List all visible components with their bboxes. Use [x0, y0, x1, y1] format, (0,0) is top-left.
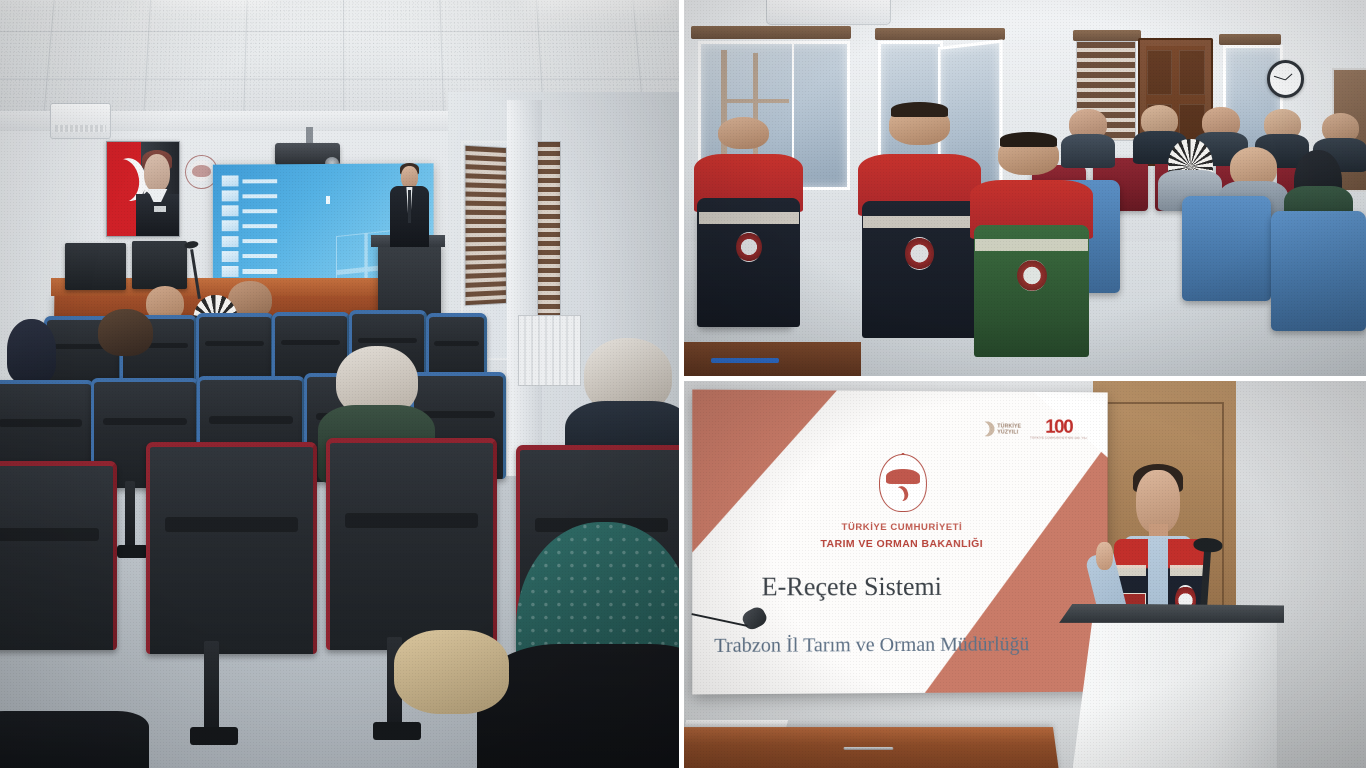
drawer-handle[interactable] — [844, 748, 893, 750]
presenter-hand — [1096, 542, 1113, 571]
logo-wheat-shape — [885, 469, 919, 484]
attendee — [1069, 109, 1107, 162]
desktop-icon — [221, 234, 278, 249]
desktop-icon — [221, 204, 278, 219]
attendee-jacket — [1061, 134, 1115, 168]
photo-conference-hall — [0, 0, 679, 768]
photo-collage: TÜRKİYE YÜZYILI 100 TÜRKİYE CUMHURİYETİ'… — [0, 0, 1366, 768]
monitor — [65, 243, 126, 291]
window-blind — [465, 145, 507, 307]
clock-minute-hand — [1274, 75, 1286, 80]
headscarf — [7, 319, 56, 382]
ministry-vest — [694, 154, 803, 323]
ministry-emblem-icon — [1017, 260, 1046, 291]
attendee-lap-item — [394, 630, 509, 715]
window-pelmet — [1219, 34, 1280, 45]
photo-audience — [684, 0, 1366, 376]
desktop-icon — [221, 174, 278, 189]
desktop-icon — [221, 249, 278, 264]
portrait-face — [144, 154, 170, 192]
window-pelmet — [691, 26, 851, 39]
attendee-hair — [98, 309, 152, 356]
attendee — [0, 645, 122, 768]
wall-clock — [1267, 60, 1304, 98]
chair-blue — [1271, 211, 1366, 331]
chair-leg — [204, 641, 219, 733]
chair-red — [0, 461, 117, 650]
door-panel — [1147, 50, 1173, 95]
ceiling-projector — [275, 143, 340, 165]
chair-leg — [125, 481, 135, 550]
desktop-icon — [221, 219, 278, 234]
hundred-caption: TÜRKİYE CUMHURİYETİ'NİN 100. YILI — [1030, 436, 1087, 440]
chair-red — [146, 442, 317, 654]
turkiye-yuzyili-logo: TÜRKİYE YÜZYILI — [979, 422, 1021, 437]
attendee-dark-clothing — [0, 711, 149, 768]
chair-foot — [190, 727, 238, 745]
door-panel — [1179, 50, 1205, 95]
photo-presentation: TÜRKİYE YÜZYILI 100 TÜRKİYE CUMHURİYETİ'… — [684, 381, 1366, 768]
badge-line-1: TÜRKİYE — [997, 423, 1021, 429]
ministry-logo-icon — [879, 454, 927, 511]
window-blind — [537, 141, 561, 321]
staff-hair — [891, 102, 947, 117]
chair-blue — [1182, 196, 1271, 301]
pen — [711, 358, 779, 363]
vest-reflective-stripe — [863, 216, 976, 229]
slide-title: E-Reçete Sistemi — [692, 572, 1009, 603]
vest-reflective-stripe — [1115, 565, 1146, 576]
portrait-badge — [154, 206, 166, 213]
emblem-inner-shape — [192, 165, 210, 178]
podium-top — [1059, 604, 1284, 623]
ministry-emblem-icon — [736, 232, 762, 262]
vest-reflective-stripe — [699, 212, 799, 224]
attendee-hand — [394, 630, 509, 768]
podium-speaker — [388, 166, 430, 247]
attendee-headscarf — [1168, 139, 1212, 203]
monitor — [132, 241, 186, 289]
ministry-vest — [858, 154, 981, 334]
window-pelmet — [1073, 30, 1141, 41]
hundred-number: 100 — [1045, 419, 1072, 436]
radiator — [518, 315, 581, 386]
cursor-icon — [326, 196, 330, 204]
air-conditioner-unit — [50, 103, 110, 139]
hundred-years-logo: 100 TÜRKİYE CUMHURİYETİ'NİN 100. YILI — [1030, 419, 1087, 440]
staff-head — [718, 117, 769, 150]
vest-reflective-stripe — [975, 239, 1088, 251]
crescent-icon — [979, 422, 994, 437]
gooseneck-microphone — [691, 613, 766, 622]
slide-org-line-1: TÜRKİYE CUMHURİYETİ — [692, 522, 1107, 533]
chair-red — [326, 438, 497, 650]
window-pelmet — [875, 28, 1005, 40]
slide-org-line-2: TARIM VE ORMAN BAKANLIĞI — [692, 538, 1107, 550]
turkiye-yuzyili-text: TÜRKİYE YÜZYILI — [997, 423, 1021, 435]
staff-hair — [1000, 132, 1056, 147]
slide-subtitle: Trabzon İl Tarım ve Orman Müdürlüğü — [692, 633, 1050, 658]
chair-foot — [117, 545, 148, 557]
ministry-vest — [970, 180, 1093, 353]
badge-line-2: YÜZYILI — [997, 429, 1021, 435]
projected-slide: TÜRKİYE YÜZYILI 100 TÜRKİYE CUMHURİYETİ'… — [692, 390, 1107, 695]
podium — [1073, 613, 1278, 768]
wooden-table — [684, 728, 1059, 768]
air-conditioner-unit — [766, 0, 891, 25]
speaker-tie — [408, 190, 411, 223]
attendee-headscarf — [516, 522, 679, 768]
desktop-icon — [221, 189, 278, 204]
vest-reflective-stripe — [1170, 565, 1204, 576]
turkish-flag-ataturk-poster — [106, 141, 180, 237]
clock-hour-hand — [1285, 73, 1292, 80]
slide-badges: TÜRKİYE YÜZYILI 100 TÜRKİYE CUMHURİYETİ'… — [979, 419, 1087, 440]
ministry-emblem-icon — [905, 237, 934, 269]
